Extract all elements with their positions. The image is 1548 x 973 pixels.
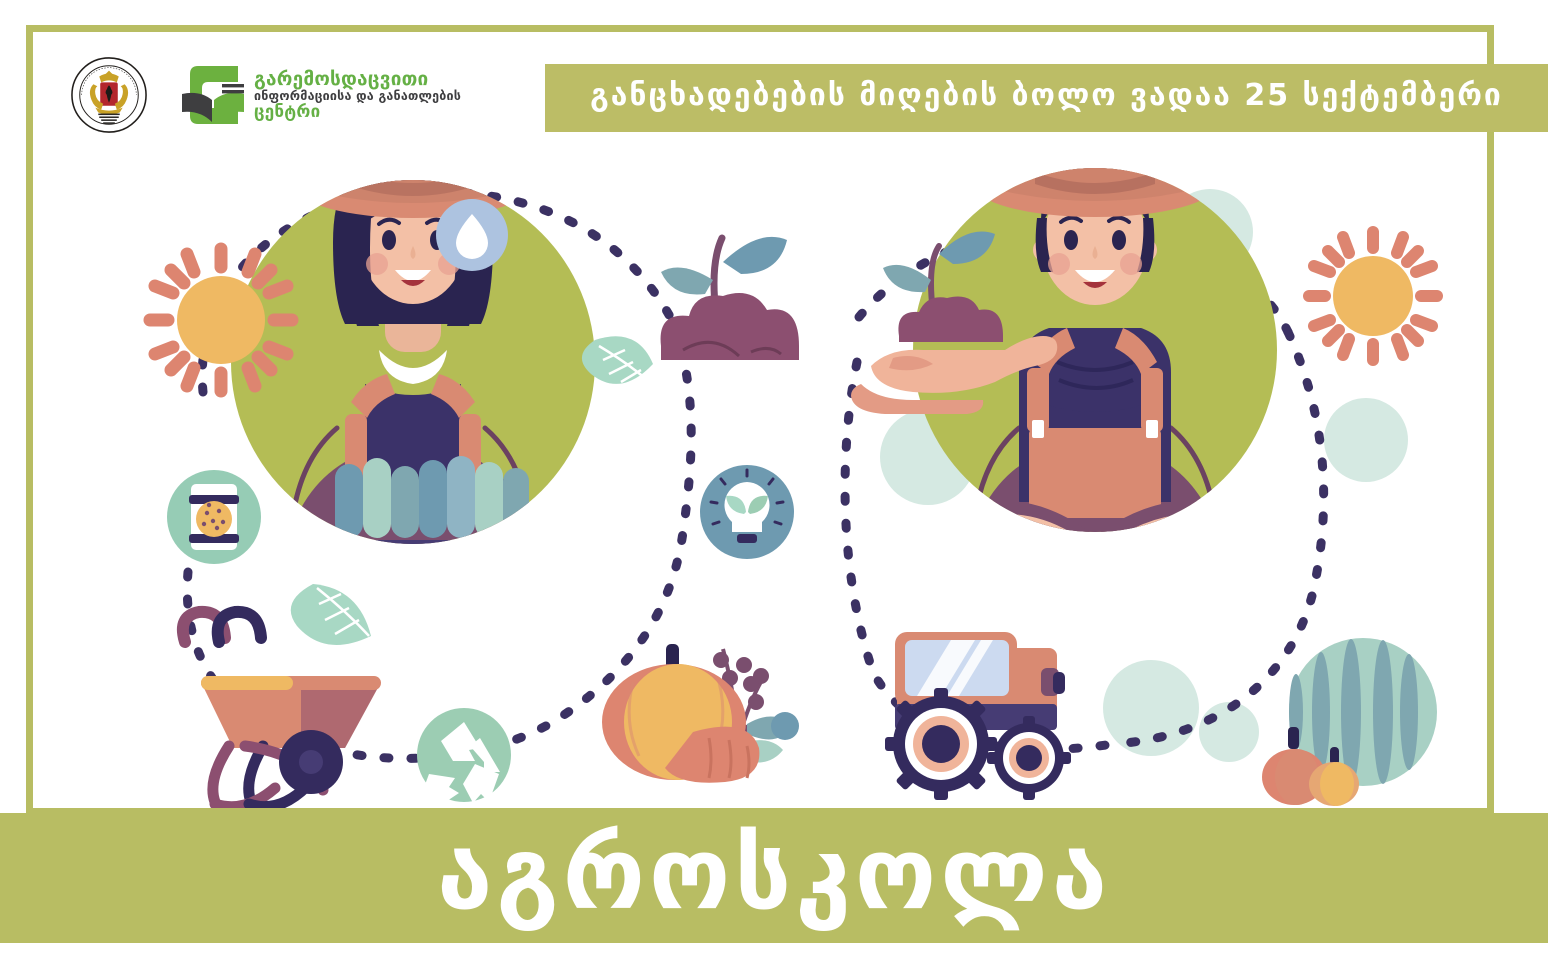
illustration-stage (33, 32, 1488, 808)
tractor-icon (885, 632, 1071, 800)
deadline-banner-text: განცხადებების მიღების ბოლო ვადაა 25 სექტ… (590, 81, 1503, 115)
tractor-big-wheel (885, 688, 997, 800)
seedling-in-soil-icon (661, 237, 799, 360)
eiec-logo-line2: ინფორმაციისა და განათლების (254, 89, 461, 102)
eiec-logo: გარემოსდაცვითი ინფორმაციისა და განათლები… (182, 64, 461, 126)
poster-root: გარემოსდაცვითი ინფორმაციისა და განათლები… (0, 0, 1548, 973)
pumpkin-harvest-icon (602, 644, 799, 783)
leaf-icon (291, 584, 371, 645)
watermelon-pumpkins-icon (1262, 638, 1437, 806)
sun-icon (150, 249, 292, 391)
recycle-icon (417, 708, 511, 805)
water-drop-icon (436, 199, 508, 271)
georgian-coat-of-arms (70, 55, 148, 135)
eiec-logo-line3: ცენტრი (254, 103, 461, 121)
header-logos: გარემოსდაცვითი ინფორმაციისა და განათლები… (70, 55, 461, 135)
vegetable-bunch (335, 456, 529, 538)
sun-icon (1309, 232, 1437, 360)
page-title: აგროსკოლა (437, 824, 1111, 932)
deadline-banner: განცხადებების მიღების ბოლო ვადაა 25 სექტ… (545, 64, 1548, 132)
jam-jar-icon (167, 470, 261, 564)
illustration-svg (33, 32, 1488, 808)
eiec-logo-line1: გარემოსდაცვითი (254, 69, 461, 89)
footer-title-band: აგროსკოლა (0, 813, 1548, 943)
eco-bulb-icon (700, 465, 794, 559)
eiec-logo-mark (182, 64, 246, 126)
